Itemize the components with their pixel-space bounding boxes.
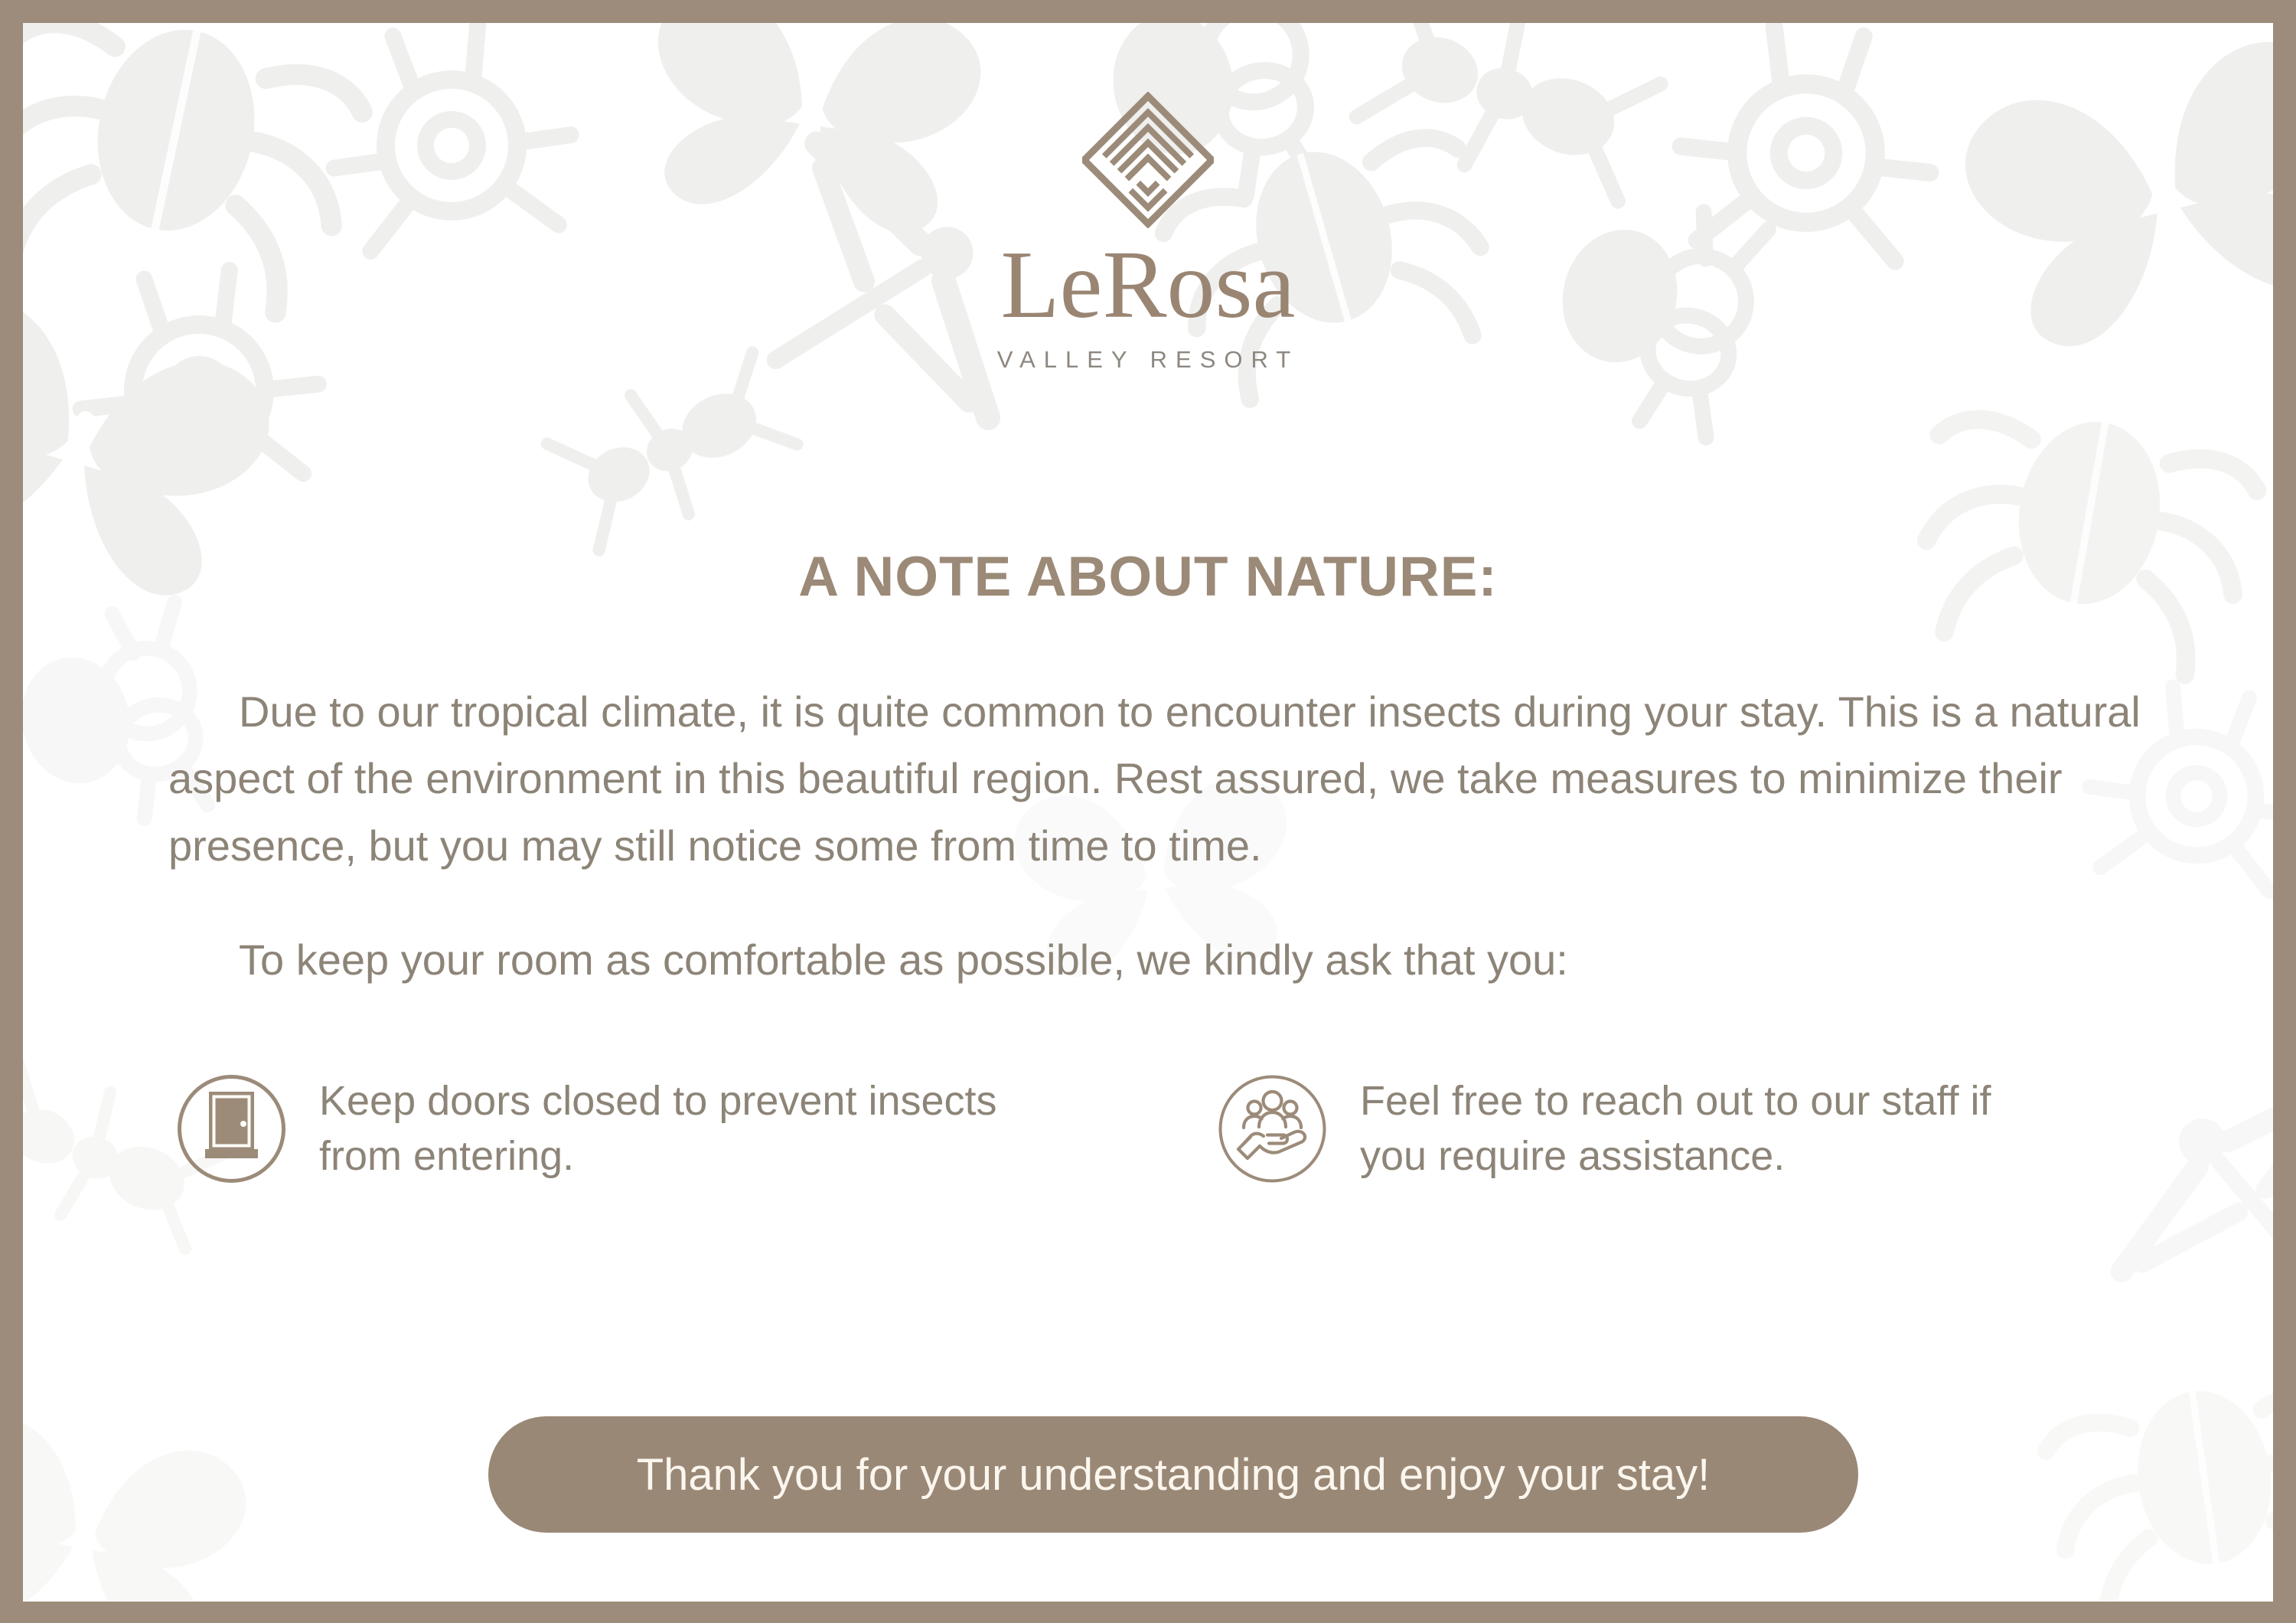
- guideline-text-staff: Feel free to reach out to our staff if y…: [1360, 1074, 2049, 1184]
- page-title: A NOTE ABOUT NATURE:: [23, 545, 2273, 609]
- paragraph-spacer: [168, 879, 2181, 926]
- guideline-item-doors: Keep doors closed to prevent insects fro…: [176, 1073, 1217, 1184]
- poster-frame: LeRosa VALLEY RESORT A NOTE ABOUT NATURE…: [0, 0, 2296, 1623]
- paragraph-request: To keep your room as comfortable as poss…: [168, 926, 2181, 993]
- paragraph-intro: Due to our tropical climate, it is quite…: [168, 678, 2181, 879]
- body-copy: Due to our tropical climate, it is quite…: [168, 678, 2181, 993]
- diamond-herringbone-logo-icon: [1082, 92, 1214, 228]
- notice-card: LeRosa VALLEY RESORT A NOTE ABOUT NATURE…: [23, 23, 2273, 1602]
- notice-content: LeRosa VALLEY RESORT A NOTE ABOUT NATURE…: [23, 23, 2273, 1602]
- brand-subtitle: VALLEY RESORT: [23, 346, 2273, 374]
- people-on-hand-icon: [1217, 1073, 1328, 1184]
- guideline-item-staff: Feel free to reach out to our staff if y…: [1217, 1073, 2181, 1184]
- guidelines-row: Keep doors closed to prevent insects fro…: [176, 1073, 2181, 1184]
- guideline-text-doors: Keep doors closed to prevent insects fro…: [319, 1074, 1008, 1184]
- resort-logo: LeRosa VALLEY RESORT: [23, 92, 2273, 374]
- thank-you-banner: Thank you for your understanding and enj…: [488, 1416, 1858, 1533]
- brand-name: LeRosa: [23, 237, 2273, 334]
- thank-you-message: Thank you for your understanding and enj…: [637, 1449, 1711, 1501]
- door-icon: [176, 1073, 287, 1184]
